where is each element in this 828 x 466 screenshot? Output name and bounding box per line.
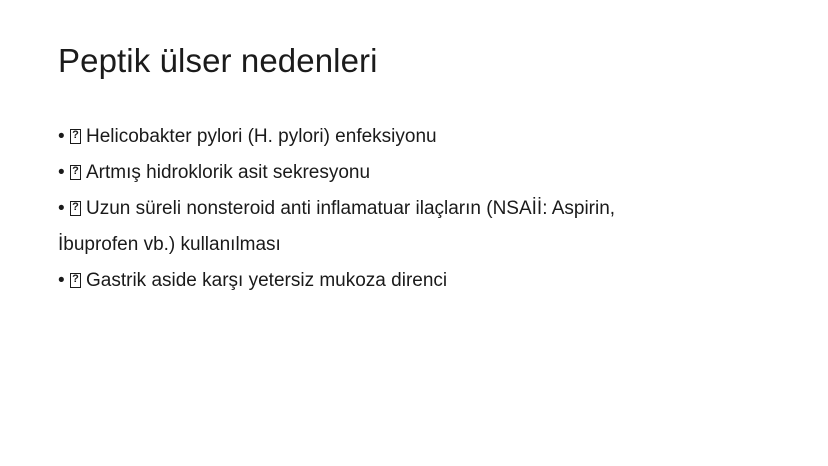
bullet-list: •Helicobakter pylori (H. pylori) enfeksi… <box>58 119 788 299</box>
missing-glyph-icon <box>70 165 81 180</box>
bullet-marker-icon: • <box>58 155 70 191</box>
list-item-continuation: İbuprofen vb.) kullanılması <box>58 227 788 263</box>
page-title: Peptik ülser nedenleri <box>58 41 768 81</box>
list-item-label: Uzun süreli nonsteroid anti inflamatuar … <box>86 198 615 219</box>
slide-canvas: Peptik ülser nedenleri •Helicobakter pyl… <box>0 0 828 466</box>
list-item-label: Gastrik aside karşı yetersiz mukoza dire… <box>86 270 447 291</box>
bullet-marker-icon: • <box>58 191 70 227</box>
list-item-label: Helicobakter pylori (H. pylori) enfeksiy… <box>86 126 437 147</box>
list-item: •Helicobakter pylori (H. pylori) enfeksi… <box>58 119 788 155</box>
bullet-marker-icon: • <box>58 119 70 155</box>
missing-glyph-icon <box>70 273 81 288</box>
list-item: •Artmış hidroklorik asit sekresyonu <box>58 155 788 191</box>
missing-glyph-icon <box>70 201 81 216</box>
list-item-label: Artmış hidroklorik asit sekresyonu <box>86 162 370 183</box>
bullet-marker-icon: • <box>58 263 70 299</box>
list-item: •Uzun süreli nonsteroid anti inflamatuar… <box>58 191 788 227</box>
list-item: •Gastrik aside karşı yetersiz mukoza dir… <box>58 263 788 299</box>
missing-glyph-icon <box>70 129 81 144</box>
